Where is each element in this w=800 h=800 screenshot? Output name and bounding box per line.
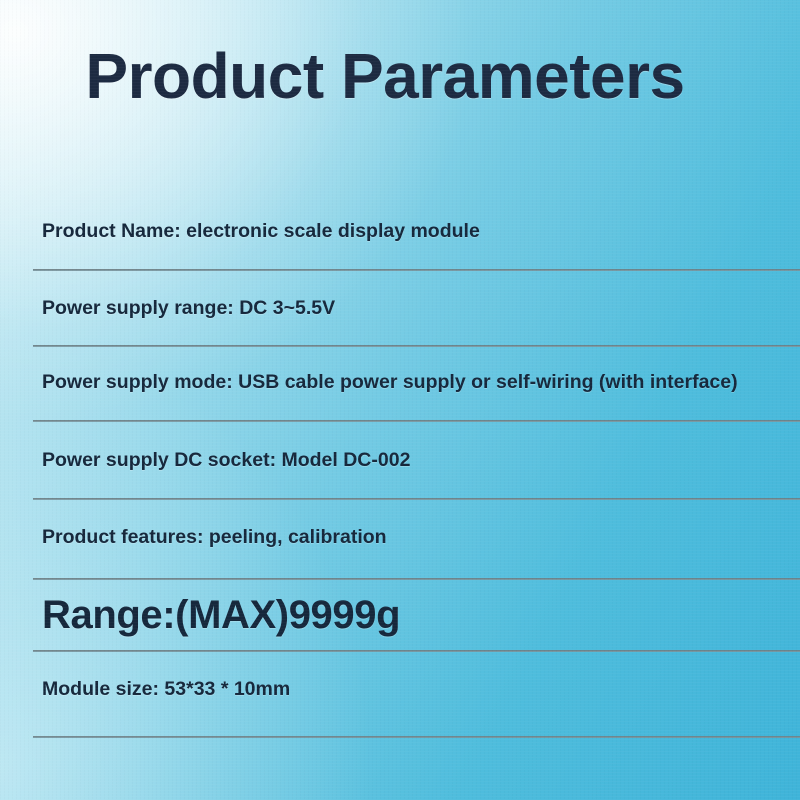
spec-row: Power supply DC socket: Model DC-002 (42, 451, 800, 471)
spec-divider (33, 345, 800, 347)
spec-divider (33, 650, 800, 652)
spec-divider (33, 736, 800, 738)
spec-divider (33, 578, 800, 580)
spec-list: Product Name: electronic scale display m… (0, 0, 800, 800)
spec-row: Power supply mode: USB cable power suppl… (42, 373, 800, 393)
product-parameters-sheet: Product Parameters Product Name: electro… (0, 0, 800, 800)
spec-divider (33, 269, 800, 271)
spec-row: Product Name: electronic scale display m… (42, 222, 800, 242)
spec-row: Product features: peeling, calibration (42, 528, 800, 548)
spec-row: Module size: 53*33 * 10mm (42, 680, 800, 700)
spec-divider (33, 420, 800, 422)
spec-divider (33, 498, 800, 500)
spec-row: Power supply range: DC 3~5.5V (42, 299, 800, 319)
spec-row: Range:(MAX)9999g (42, 595, 800, 635)
